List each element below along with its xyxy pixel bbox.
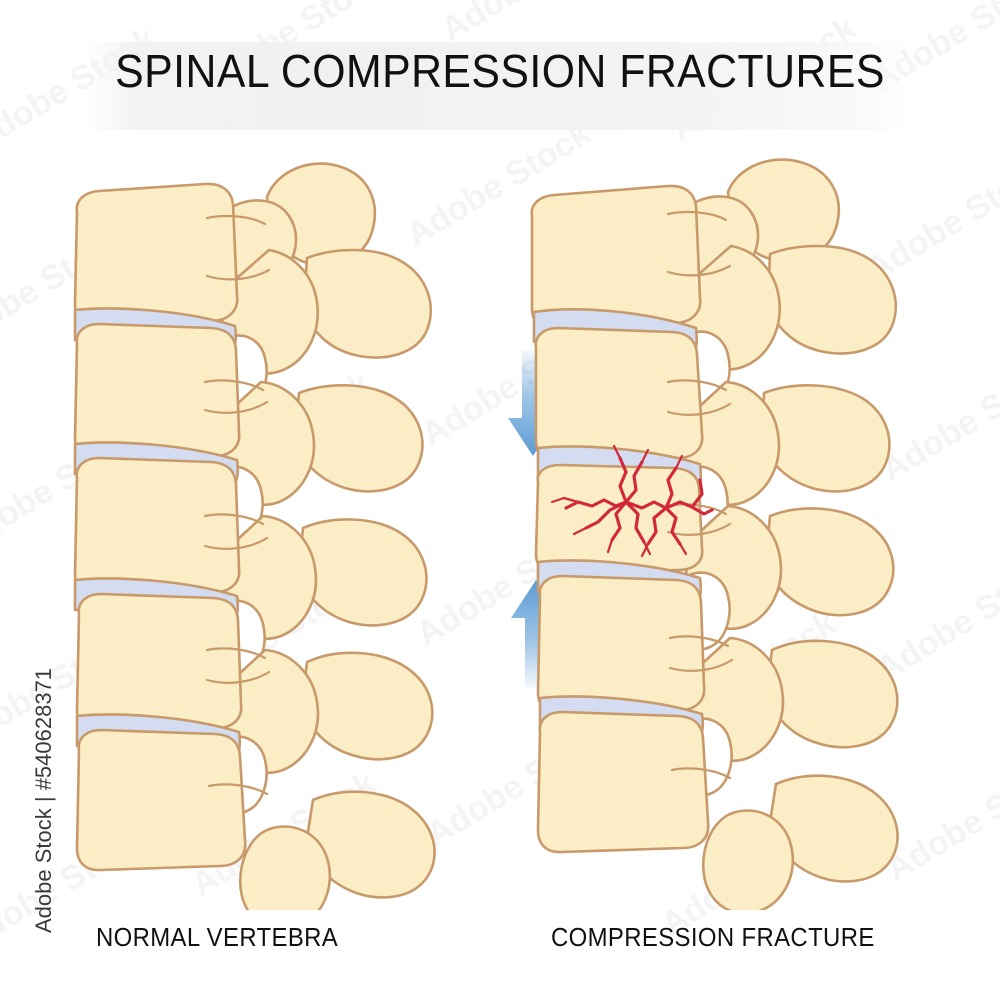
vertebral-body — [75, 324, 239, 460]
spinous-process — [703, 810, 793, 910]
articular-process — [304, 250, 431, 357]
vertebral-body — [536, 328, 703, 462]
compression-spine-illustration — [520, 150, 940, 910]
vertebral-body — [77, 730, 245, 870]
normal-spine-illustration — [55, 150, 455, 910]
articular-process — [767, 641, 897, 747]
vertebral-body — [75, 184, 237, 326]
vertebral-body — [538, 712, 708, 852]
page-title: SPINAL COMPRESSION FRACTURES — [35, 44, 965, 98]
articular-process — [762, 385, 889, 491]
articular-process — [766, 508, 893, 615]
caption-compression-fracture: COMPRESSION FRACTURE — [551, 922, 875, 953]
articular-process — [768, 246, 896, 353]
stock-credit-watermark: Adobe Stock | #540628371 — [31, 673, 57, 933]
vertebral-body — [538, 576, 704, 714]
caption-normal-vertebra: NORMAL VERTEBRA — [96, 922, 338, 953]
illustration-canvas: Adobe Stock Adobe Stock Adobe Stock Adob… — [0, 0, 1000, 987]
articular-process — [299, 519, 426, 625]
vertebral-body — [75, 458, 239, 596]
spinous-process — [240, 826, 330, 910]
vertebral-body — [77, 594, 241, 732]
articular-process — [302, 653, 432, 759]
